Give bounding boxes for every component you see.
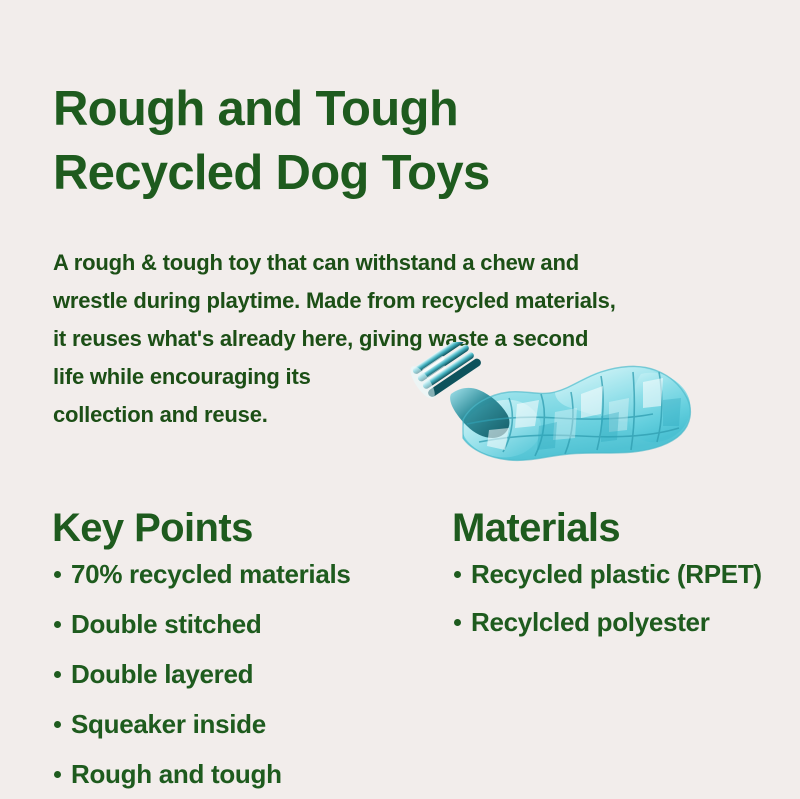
list-item: Double stitched [52,608,432,640]
list-item: 70% recycled materials [52,558,432,590]
list-item-label: 70% recycled materials [71,559,351,589]
list-item-label: Rough and tough [71,759,282,789]
list-item: Recycled plastic (RPET) [452,558,782,590]
list-item: Double layered [52,658,432,690]
key-points-heading: Key Points [52,506,432,550]
product-description: A rough & tough toy that can withstand a… [53,244,713,434]
page-title: Rough and Tough Recycled Dog Toys [53,77,753,205]
bullet-dot-icon [54,621,61,628]
materials-list: Recycled plastic (RPET) Recylcled polyes… [452,558,782,638]
materials-column: Materials Recycled plastic (RPET) Recylc… [452,506,782,654]
bullet-dot-icon [454,571,461,578]
bullet-dot-icon [54,671,61,678]
list-item-label: Recylcled polyester [471,607,710,637]
key-points-list: 70% recycled materials Double stitched D… [52,558,432,790]
bullet-dot-icon [54,771,61,778]
list-item: Squeaker inside [52,708,432,740]
list-item-label: Recycled plastic (RPET) [471,559,762,589]
list-item-label: Squeaker inside [71,709,266,739]
list-item: Rough and tough [52,758,432,790]
product-info-card: Rough and Tough Recycled Dog Toys A roug… [0,0,800,799]
list-item-label: Double layered [71,659,253,689]
materials-heading: Materials [452,506,782,550]
bullet-dot-icon [54,571,61,578]
list-item-label: Double stitched [71,609,262,639]
key-points-column: Key Points 70% recycled materials Double… [52,506,432,790]
list-item: Recylcled polyester [452,606,782,638]
bullet-dot-icon [454,619,461,626]
bullet-dot-icon [54,721,61,728]
